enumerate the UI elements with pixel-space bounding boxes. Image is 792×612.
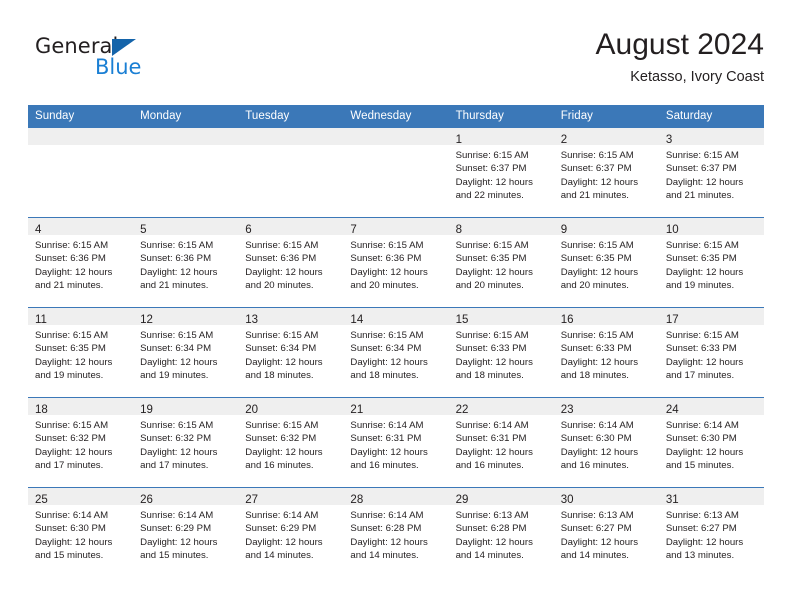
daylight-text-line1: Daylight: 12 hours [456, 446, 549, 459]
day-number-band: 12 [133, 308, 238, 325]
day-number: 23 [561, 404, 574, 416]
brand-logo[interactable]: General Blue [35, 34, 245, 86]
daylight-text-line2: and 15 minutes. [666, 459, 759, 472]
sunset-text: Sunset: 6:33 PM [456, 342, 549, 355]
daylight-text-line2: and 21 minutes. [35, 279, 128, 292]
sunset-text: Sunset: 6:34 PM [350, 342, 443, 355]
daylight-text-line1: Daylight: 12 hours [456, 176, 549, 189]
daylight-text-line1: Daylight: 12 hours [245, 536, 338, 549]
day-number-band: 16 [554, 308, 659, 325]
day-number: 1 [456, 134, 462, 146]
calendar-day-cell[interactable]: 1Sunrise: 6:15 AMSunset: 6:37 PMDaylight… [449, 128, 554, 218]
sunset-text: Sunset: 6:33 PM [666, 342, 759, 355]
day-number-band: 14 [343, 308, 448, 325]
sunset-text: Sunset: 6:35 PM [35, 342, 128, 355]
daylight-text-line2: and 21 minutes. [666, 189, 759, 202]
daylight-text-line2: and 17 minutes. [666, 369, 759, 382]
daylight-text-line1: Daylight: 12 hours [35, 266, 128, 279]
page-title: August 2024 [596, 26, 764, 64]
day-number: 22 [456, 404, 469, 416]
sunset-text: Sunset: 6:35 PM [666, 252, 759, 265]
calendar-day-cell[interactable]: 31Sunrise: 6:13 AMSunset: 6:27 PMDayligh… [659, 488, 764, 578]
day-info: Sunrise: 6:14 AMSunset: 6:30 PMDaylight:… [554, 415, 659, 473]
day-info: Sunrise: 6:15 AMSunset: 6:34 PMDaylight:… [343, 325, 448, 383]
daylight-text-line1: Daylight: 12 hours [245, 266, 338, 279]
daylight-text-line1: Daylight: 12 hours [456, 266, 549, 279]
day-info: Sunrise: 6:15 AMSunset: 6:33 PMDaylight:… [554, 325, 659, 383]
calendar-cell-empty [238, 128, 343, 218]
daylight-text-line1: Daylight: 12 hours [350, 536, 443, 549]
sunrise-text: Sunrise: 6:15 AM [561, 149, 654, 162]
sunset-text: Sunset: 6:32 PM [35, 432, 128, 445]
day-number: 28 [350, 494, 363, 506]
sunset-text: Sunset: 6:30 PM [35, 522, 128, 535]
sunrise-text: Sunrise: 6:14 AM [140, 509, 233, 522]
calendar-day-cell[interactable]: 16Sunrise: 6:15 AMSunset: 6:33 PMDayligh… [554, 308, 659, 398]
calendar-week-row: 25Sunrise: 6:14 AMSunset: 6:30 PMDayligh… [28, 488, 764, 578]
daylight-text-line2: and 20 minutes. [350, 279, 443, 292]
sunset-text: Sunset: 6:36 PM [350, 252, 443, 265]
calendar-day-cell[interactable]: 26Sunrise: 6:14 AMSunset: 6:29 PMDayligh… [133, 488, 238, 578]
daylight-text-line1: Daylight: 12 hours [666, 176, 759, 189]
weekday-header-friday: Friday [554, 105, 659, 128]
day-info: Sunrise: 6:15 AMSunset: 6:32 PMDaylight:… [238, 415, 343, 473]
day-number: 11 [35, 314, 47, 326]
day-info: Sunrise: 6:15 AMSunset: 6:37 PMDaylight:… [659, 145, 764, 203]
title-block: August 2024 Ketasso, Ivory Coast [596, 26, 764, 88]
day-number-band: 4 [28, 218, 133, 235]
daylight-text-line2: and 16 minutes. [350, 459, 443, 472]
calendar-day-cell[interactable]: 22Sunrise: 6:14 AMSunset: 6:31 PMDayligh… [449, 398, 554, 488]
sunrise-text: Sunrise: 6:15 AM [666, 329, 759, 342]
calendar-day-cell[interactable]: 25Sunrise: 6:14 AMSunset: 6:30 PMDayligh… [28, 488, 133, 578]
calendar-day-cell[interactable]: 12Sunrise: 6:15 AMSunset: 6:34 PMDayligh… [133, 308, 238, 398]
day-number: 12 [140, 314, 153, 326]
day-number: 26 [140, 494, 153, 506]
day-number: 8 [456, 224, 462, 236]
sunset-text: Sunset: 6:36 PM [245, 252, 338, 265]
calendar-day-cell[interactable]: 4Sunrise: 6:15 AMSunset: 6:36 PMDaylight… [28, 218, 133, 308]
day-number-band: 18 [28, 398, 133, 415]
day-number: 17 [666, 314, 679, 326]
sunrise-text: Sunrise: 6:15 AM [666, 149, 759, 162]
day-info: Sunrise: 6:15 AMSunset: 6:35 PMDaylight:… [449, 235, 554, 293]
day-info: Sunrise: 6:15 AMSunset: 6:32 PMDaylight:… [133, 415, 238, 473]
day-number-band: 20 [238, 398, 343, 415]
day-number-band [28, 128, 133, 145]
daylight-text-line1: Daylight: 12 hours [561, 446, 654, 459]
calendar-header-row: Sunday Monday Tuesday Wednesday Thursday… [28, 105, 764, 128]
daylight-text-line2: and 20 minutes. [561, 279, 654, 292]
daylight-text-line2: and 20 minutes. [245, 279, 338, 292]
sunrise-text: Sunrise: 6:14 AM [245, 509, 338, 522]
calendar-day-cell[interactable]: 21Sunrise: 6:14 AMSunset: 6:31 PMDayligh… [343, 398, 448, 488]
calendar-day-cell[interactable]: 7Sunrise: 6:15 AMSunset: 6:36 PMDaylight… [343, 218, 448, 308]
calendar-cell-empty [28, 128, 133, 218]
daylight-text-line1: Daylight: 12 hours [561, 266, 654, 279]
sunset-text: Sunset: 6:33 PM [561, 342, 654, 355]
day-info: Sunrise: 6:13 AMSunset: 6:28 PMDaylight:… [449, 505, 554, 563]
daylight-text-line2: and 19 minutes. [140, 369, 233, 382]
calendar-day-cell[interactable]: 20Sunrise: 6:15 AMSunset: 6:32 PMDayligh… [238, 398, 343, 488]
daylight-text-line2: and 16 minutes. [245, 459, 338, 472]
sunset-text: Sunset: 6:30 PM [561, 432, 654, 445]
sunset-text: Sunset: 6:37 PM [666, 162, 759, 175]
day-number-band: 21 [343, 398, 448, 415]
sunset-text: Sunset: 6:31 PM [456, 432, 549, 445]
day-number: 20 [245, 404, 258, 416]
day-info: Sunrise: 6:15 AMSunset: 6:34 PMDaylight:… [238, 325, 343, 383]
day-info: Sunrise: 6:15 AMSunset: 6:35 PMDaylight:… [28, 325, 133, 383]
day-number: 9 [561, 224, 567, 236]
day-number-band: 6 [238, 218, 343, 235]
daylight-text-line2: and 21 minutes. [561, 189, 654, 202]
sunrise-text: Sunrise: 6:15 AM [35, 329, 128, 342]
day-number-band: 17 [659, 308, 764, 325]
daylight-text-line2: and 14 minutes. [245, 549, 338, 562]
day-number-band [343, 128, 448, 145]
sunrise-text: Sunrise: 6:14 AM [666, 419, 759, 432]
day-info: Sunrise: 6:14 AMSunset: 6:29 PMDaylight:… [238, 505, 343, 563]
sunrise-text: Sunrise: 6:15 AM [456, 149, 549, 162]
day-number-band: 27 [238, 488, 343, 505]
day-number-band: 22 [449, 398, 554, 415]
daylight-text-line2: and 15 minutes. [35, 549, 128, 562]
daylight-text-line1: Daylight: 12 hours [561, 176, 654, 189]
daylight-text-line1: Daylight: 12 hours [140, 356, 233, 369]
day-number: 19 [140, 404, 153, 416]
sunset-text: Sunset: 6:28 PM [350, 522, 443, 535]
calendar-week-row: 11Sunrise: 6:15 AMSunset: 6:35 PMDayligh… [28, 308, 764, 398]
sunrise-text: Sunrise: 6:15 AM [456, 329, 549, 342]
day-info: Sunrise: 6:15 AMSunset: 6:36 PMDaylight:… [133, 235, 238, 293]
day-info: Sunrise: 6:13 AMSunset: 6:27 PMDaylight:… [659, 505, 764, 563]
calendar-page: General Blue August 2024 Ketasso, Ivory … [0, 0, 792, 612]
daylight-text-line1: Daylight: 12 hours [666, 266, 759, 279]
day-info: Sunrise: 6:15 AMSunset: 6:34 PMDaylight:… [133, 325, 238, 383]
daylight-text-line1: Daylight: 12 hours [245, 356, 338, 369]
calendar-day-cell[interactable]: 30Sunrise: 6:13 AMSunset: 6:27 PMDayligh… [554, 488, 659, 578]
daylight-text-line2: and 14 minutes. [456, 549, 549, 562]
calendar-body: 1Sunrise: 6:15 AMSunset: 6:37 PMDaylight… [28, 128, 764, 577]
sunset-text: Sunset: 6:31 PM [350, 432, 443, 445]
weekday-header-tuesday: Tuesday [238, 105, 343, 128]
daylight-text-line2: and 18 minutes. [456, 369, 549, 382]
day-number-band: 10 [659, 218, 764, 235]
day-number-band: 29 [449, 488, 554, 505]
sunrise-text: Sunrise: 6:14 AM [350, 419, 443, 432]
day-number: 4 [35, 224, 41, 236]
sunset-text: Sunset: 6:37 PM [561, 162, 654, 175]
calendar-day-cell[interactable]: 11Sunrise: 6:15 AMSunset: 6:35 PMDayligh… [28, 308, 133, 398]
calendar-day-cell[interactable]: 13Sunrise: 6:15 AMSunset: 6:34 PMDayligh… [238, 308, 343, 398]
sunset-text: Sunset: 6:29 PM [140, 522, 233, 535]
day-number-band: 26 [133, 488, 238, 505]
daylight-text-line2: and 14 minutes. [561, 549, 654, 562]
daylight-text-line2: and 20 minutes. [456, 279, 549, 292]
daylight-text-line2: and 19 minutes. [35, 369, 128, 382]
sunrise-text: Sunrise: 6:14 AM [35, 509, 128, 522]
day-number: 21 [350, 404, 363, 416]
day-number-band: 30 [554, 488, 659, 505]
day-info: Sunrise: 6:15 AMSunset: 6:37 PMDaylight:… [554, 145, 659, 203]
daylight-text-line2: and 17 minutes. [35, 459, 128, 472]
sunrise-text: Sunrise: 6:14 AM [561, 419, 654, 432]
daylight-text-line1: Daylight: 12 hours [245, 446, 338, 459]
calendar-day-cell[interactable]: 18Sunrise: 6:15 AMSunset: 6:32 PMDayligh… [28, 398, 133, 488]
day-info: Sunrise: 6:13 AMSunset: 6:27 PMDaylight:… [554, 505, 659, 563]
calendar-day-cell[interactable]: 8Sunrise: 6:15 AMSunset: 6:35 PMDaylight… [449, 218, 554, 308]
day-info: Sunrise: 6:15 AMSunset: 6:36 PMDaylight:… [28, 235, 133, 293]
daylight-text-line2: and 13 minutes. [666, 549, 759, 562]
day-number-band: 1 [449, 128, 554, 145]
day-number-band: 25 [28, 488, 133, 505]
day-number: 14 [350, 314, 363, 326]
sunrise-text: Sunrise: 6:15 AM [350, 329, 443, 342]
sunrise-text: Sunrise: 6:15 AM [140, 239, 233, 252]
day-number-band: 9 [554, 218, 659, 235]
day-info: Sunrise: 6:14 AMSunset: 6:30 PMDaylight:… [28, 505, 133, 563]
sunrise-text: Sunrise: 6:15 AM [35, 419, 128, 432]
day-number: 25 [35, 494, 48, 506]
daylight-text-line1: Daylight: 12 hours [666, 356, 759, 369]
daylight-text-line2: and 17 minutes. [140, 459, 233, 472]
sunrise-text: Sunrise: 6:15 AM [456, 239, 549, 252]
day-number: 15 [456, 314, 469, 326]
calendar-day-cell[interactable]: 2Sunrise: 6:15 AMSunset: 6:37 PMDaylight… [554, 128, 659, 218]
daylight-text-line2: and 15 minutes. [140, 549, 233, 562]
daylight-text-line2: and 19 minutes. [666, 279, 759, 292]
calendar-day-cell[interactable]: 17Sunrise: 6:15 AMSunset: 6:33 PMDayligh… [659, 308, 764, 398]
day-number-band: 28 [343, 488, 448, 505]
daylight-text-line1: Daylight: 12 hours [666, 446, 759, 459]
weekday-header-thursday: Thursday [449, 105, 554, 128]
sunrise-text: Sunrise: 6:13 AM [666, 509, 759, 522]
day-number: 16 [561, 314, 574, 326]
daylight-text-line1: Daylight: 12 hours [140, 266, 233, 279]
day-number-band: 15 [449, 308, 554, 325]
day-info: Sunrise: 6:14 AMSunset: 6:31 PMDaylight:… [449, 415, 554, 473]
weekday-header-saturday: Saturday [659, 105, 764, 128]
sunrise-text: Sunrise: 6:15 AM [140, 419, 233, 432]
day-info: Sunrise: 6:15 AMSunset: 6:37 PMDaylight:… [449, 145, 554, 203]
daylight-text-line2: and 18 minutes. [245, 369, 338, 382]
daylight-text-line2: and 14 minutes. [350, 549, 443, 562]
daylight-text-line2: and 16 minutes. [456, 459, 549, 472]
daylight-text-line1: Daylight: 12 hours [666, 536, 759, 549]
day-number-band: 23 [554, 398, 659, 415]
calendar-week-row: 1Sunrise: 6:15 AMSunset: 6:37 PMDaylight… [28, 128, 764, 218]
calendar-table: Sunday Monday Tuesday Wednesday Thursday… [28, 105, 764, 577]
sunrise-text: Sunrise: 6:15 AM [35, 239, 128, 252]
daylight-text-line1: Daylight: 12 hours [35, 356, 128, 369]
daylight-text-line2: and 18 minutes. [350, 369, 443, 382]
sunrise-text: Sunrise: 6:14 AM [350, 509, 443, 522]
day-number: 30 [561, 494, 574, 506]
sunrise-text: Sunrise: 6:15 AM [666, 239, 759, 252]
daylight-text-line1: Daylight: 12 hours [140, 536, 233, 549]
day-number-band: 11 [28, 308, 133, 325]
page-subtitle: Ketasso, Ivory Coast [596, 66, 764, 88]
daylight-text-line1: Daylight: 12 hours [350, 266, 443, 279]
day-info: Sunrise: 6:14 AMSunset: 6:28 PMDaylight:… [343, 505, 448, 563]
sunset-text: Sunset: 6:36 PM [35, 252, 128, 265]
day-number: 13 [245, 314, 258, 326]
daylight-text-line2: and 18 minutes. [561, 369, 654, 382]
calendar-day-cell[interactable]: 19Sunrise: 6:15 AMSunset: 6:32 PMDayligh… [133, 398, 238, 488]
daylight-text-line1: Daylight: 12 hours [561, 356, 654, 369]
sunset-text: Sunset: 6:27 PM [561, 522, 654, 535]
sunset-text: Sunset: 6:36 PM [140, 252, 233, 265]
day-number-band [133, 128, 238, 145]
sunset-text: Sunset: 6:34 PM [245, 342, 338, 355]
sunset-text: Sunset: 6:29 PM [245, 522, 338, 535]
day-number: 24 [666, 404, 679, 416]
day-number-band: 3 [659, 128, 764, 145]
day-info: Sunrise: 6:15 AMSunset: 6:36 PMDaylight:… [343, 235, 448, 293]
calendar-day-cell[interactable]: 29Sunrise: 6:13 AMSunset: 6:28 PMDayligh… [449, 488, 554, 578]
daylight-text-line1: Daylight: 12 hours [456, 536, 549, 549]
day-number: 10 [666, 224, 679, 236]
calendar-week-row: 18Sunrise: 6:15 AMSunset: 6:32 PMDayligh… [28, 398, 764, 488]
sunrise-text: Sunrise: 6:13 AM [561, 509, 654, 522]
day-number: 18 [35, 404, 48, 416]
daylight-text-line1: Daylight: 12 hours [35, 446, 128, 459]
day-info: Sunrise: 6:15 AMSunset: 6:32 PMDaylight:… [28, 415, 133, 473]
sunset-text: Sunset: 6:37 PM [456, 162, 549, 175]
sunrise-text: Sunrise: 6:15 AM [561, 329, 654, 342]
daylight-text-line2: and 21 minutes. [140, 279, 233, 292]
sunrise-text: Sunrise: 6:14 AM [456, 419, 549, 432]
sunrise-text: Sunrise: 6:15 AM [350, 239, 443, 252]
day-info: Sunrise: 6:15 AMSunset: 6:35 PMDaylight:… [659, 235, 764, 293]
daylight-text-line2: and 16 minutes. [561, 459, 654, 472]
day-number: 27 [245, 494, 258, 506]
day-info: Sunrise: 6:14 AMSunset: 6:31 PMDaylight:… [343, 415, 448, 473]
sunset-text: Sunset: 6:28 PM [456, 522, 549, 535]
day-number-band: 13 [238, 308, 343, 325]
sunset-text: Sunset: 6:35 PM [456, 252, 549, 265]
calendar-day-cell[interactable]: 24Sunrise: 6:14 AMSunset: 6:30 PMDayligh… [659, 398, 764, 488]
day-number-band: 2 [554, 128, 659, 145]
daylight-text-line1: Daylight: 12 hours [140, 446, 233, 459]
day-info: Sunrise: 6:15 AMSunset: 6:36 PMDaylight:… [238, 235, 343, 293]
calendar-day-cell[interactable]: 10Sunrise: 6:15 AMSunset: 6:35 PMDayligh… [659, 218, 764, 308]
day-number: 6 [245, 224, 251, 236]
calendar-day-cell[interactable]: 28Sunrise: 6:14 AMSunset: 6:28 PMDayligh… [343, 488, 448, 578]
daylight-text-line1: Daylight: 12 hours [350, 446, 443, 459]
day-info: Sunrise: 6:15 AMSunset: 6:33 PMDaylight:… [449, 325, 554, 383]
daylight-text-line2: and 22 minutes. [456, 189, 549, 202]
sunset-text: Sunset: 6:32 PM [245, 432, 338, 445]
day-number: 7 [350, 224, 356, 236]
page-header: General Blue August 2024 Ketasso, Ivory … [28, 26, 764, 98]
day-number: 29 [456, 494, 469, 506]
day-number-band [238, 128, 343, 145]
day-number-band: 19 [133, 398, 238, 415]
day-number-band: 8 [449, 218, 554, 235]
calendar-cell-empty [133, 128, 238, 218]
sunrise-text: Sunrise: 6:15 AM [245, 239, 338, 252]
calendar-cell-empty [343, 128, 448, 218]
weekday-header-monday: Monday [133, 105, 238, 128]
brand-name-blue: Blue [95, 55, 141, 79]
calendar-day-cell[interactable]: 6Sunrise: 6:15 AMSunset: 6:36 PMDaylight… [238, 218, 343, 308]
day-number-band: 24 [659, 398, 764, 415]
day-number: 5 [140, 224, 146, 236]
calendar-day-cell[interactable]: 3Sunrise: 6:15 AMSunset: 6:37 PMDaylight… [659, 128, 764, 218]
day-info: Sunrise: 6:14 AMSunset: 6:30 PMDaylight:… [659, 415, 764, 473]
daylight-text-line1: Daylight: 12 hours [35, 536, 128, 549]
weekday-header-sunday: Sunday [28, 105, 133, 128]
sunrise-text: Sunrise: 6:15 AM [561, 239, 654, 252]
sunrise-text: Sunrise: 6:15 AM [245, 329, 338, 342]
sunrise-text: Sunrise: 6:15 AM [245, 419, 338, 432]
calendar-day-cell[interactable]: 9Sunrise: 6:15 AMSunset: 6:35 PMDaylight… [554, 218, 659, 308]
sunset-text: Sunset: 6:32 PM [140, 432, 233, 445]
calendar-day-cell[interactable]: 27Sunrise: 6:14 AMSunset: 6:29 PMDayligh… [238, 488, 343, 578]
calendar-day-cell[interactable]: 15Sunrise: 6:15 AMSunset: 6:33 PMDayligh… [449, 308, 554, 398]
sunset-text: Sunset: 6:30 PM [666, 432, 759, 445]
calendar-day-cell[interactable]: 23Sunrise: 6:14 AMSunset: 6:30 PMDayligh… [554, 398, 659, 488]
daylight-text-line1: Daylight: 12 hours [456, 356, 549, 369]
day-number: 3 [666, 134, 672, 146]
day-info: Sunrise: 6:14 AMSunset: 6:29 PMDaylight:… [133, 505, 238, 563]
day-info: Sunrise: 6:15 AMSunset: 6:35 PMDaylight:… [554, 235, 659, 293]
day-info: Sunrise: 6:15 AMSunset: 6:33 PMDaylight:… [659, 325, 764, 383]
calendar-day-cell[interactable]: 14Sunrise: 6:15 AMSunset: 6:34 PMDayligh… [343, 308, 448, 398]
sunset-text: Sunset: 6:27 PM [666, 522, 759, 535]
daylight-text-line1: Daylight: 12 hours [561, 536, 654, 549]
day-number-band: 7 [343, 218, 448, 235]
day-number: 2 [561, 134, 567, 146]
brand-triangle-icon [112, 39, 136, 56]
sunset-text: Sunset: 6:34 PM [140, 342, 233, 355]
weekday-header-wednesday: Wednesday [343, 105, 448, 128]
day-number-band: 5 [133, 218, 238, 235]
sunset-text: Sunset: 6:35 PM [561, 252, 654, 265]
sunrise-text: Sunrise: 6:13 AM [456, 509, 549, 522]
sunrise-text: Sunrise: 6:15 AM [140, 329, 233, 342]
calendar-week-row: 4Sunrise: 6:15 AMSunset: 6:36 PMDaylight… [28, 218, 764, 308]
day-number-band: 31 [659, 488, 764, 505]
day-number: 31 [666, 494, 679, 506]
daylight-text-line1: Daylight: 12 hours [350, 356, 443, 369]
calendar-day-cell[interactable]: 5Sunrise: 6:15 AMSunset: 6:36 PMDaylight… [133, 218, 238, 308]
